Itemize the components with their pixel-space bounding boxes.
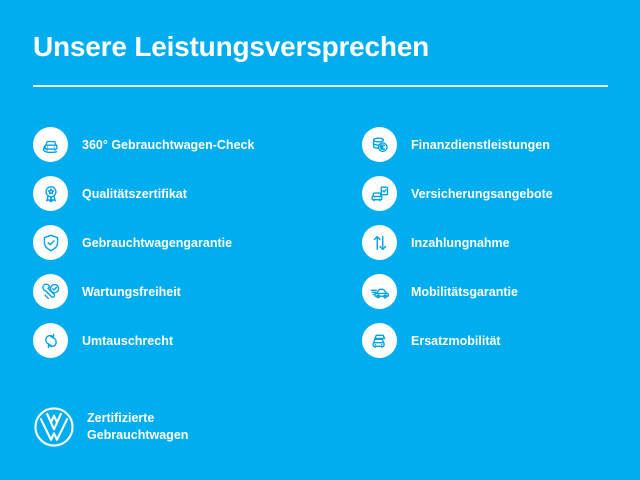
shield-check-icon <box>33 225 68 260</box>
feature-label: Qualitätszertifikat <box>82 186 187 202</box>
feature-label: Ersatzmobilität <box>411 333 501 349</box>
feature-label: Umtauschrecht <box>82 333 173 349</box>
feature-label: Gebrauchtwagengarantie <box>82 235 232 251</box>
brand-line-1: Zertifizierte <box>87 410 188 427</box>
feature-item-finanzdienstleistungen[interactable]: Finanzdienstleistungen <box>362 120 632 169</box>
page-title: Unsere Leistungsversprechen <box>33 30 608 64</box>
volkswagen-logo <box>33 406 75 448</box>
feature-label: Mobilitätsgarantie <box>411 284 518 300</box>
feature-label: 360° Gebrauchtwagen-Check <box>82 137 254 153</box>
quality-seal-icon <box>33 176 68 211</box>
car-document-check-icon <box>362 176 397 211</box>
features-section: 360° Gebrauchtwagen-Check Qualitätszerti… <box>0 120 640 365</box>
wrench-check-icon <box>33 274 68 309</box>
feature-label: Wartungsfreiheit <box>82 284 181 300</box>
header: Unsere Leistungsversprechen <box>33 30 608 64</box>
feature-label: Inzahlungnahme <box>411 235 510 251</box>
feature-label: Finanzdienstleistungen <box>411 137 550 153</box>
brand-line-2: Gebrauchtwagen <box>87 427 188 444</box>
brand-footer: Zertifizierte Gebrauchtwagen <box>33 406 188 448</box>
exchange-arrows-icon <box>33 323 68 358</box>
feature-item-gebrauchtwagen-check[interactable]: 360° Gebrauchtwagen-Check <box>33 120 333 169</box>
car-360-check-icon <box>33 127 68 162</box>
two-cars-icon <box>362 323 397 358</box>
car-motion-icon <box>362 274 397 309</box>
feature-item-versicherungsangebote[interactable]: Versicherungsangebote <box>362 169 632 218</box>
brand-text: Zertifizierte Gebrauchtwagen <box>87 410 188 444</box>
feature-column-right: Finanzdienstleistungen Versicherungsange… <box>362 120 632 365</box>
promo-card: Unsere Leistungsversprechen 3 <box>0 0 640 480</box>
title-divider <box>33 85 608 87</box>
coins-euro-icon <box>362 127 397 162</box>
feature-item-mobilitaetsgarantie[interactable]: Mobilitätsgarantie <box>362 267 632 316</box>
feature-label: Versicherungsangebote <box>411 186 553 202</box>
up-down-arrows-icon <box>362 225 397 260</box>
feature-item-ersatzmobilitaet[interactable]: Ersatzmobilität <box>362 316 632 365</box>
feature-column-left: 360° Gebrauchtwagen-Check Qualitätszerti… <box>33 120 333 365</box>
feature-item-gebrauchtwagengarantie[interactable]: Gebrauchtwagengarantie <box>33 218 333 267</box>
feature-item-inzahlungnahme[interactable]: Inzahlungnahme <box>362 218 632 267</box>
feature-item-wartungsfreiheit[interactable]: Wartungsfreiheit <box>33 267 333 316</box>
feature-item-umtauschrecht[interactable]: Umtauschrecht <box>33 316 333 365</box>
feature-item-qualitaetszertifikat[interactable]: Qualitätszertifikat <box>33 169 333 218</box>
